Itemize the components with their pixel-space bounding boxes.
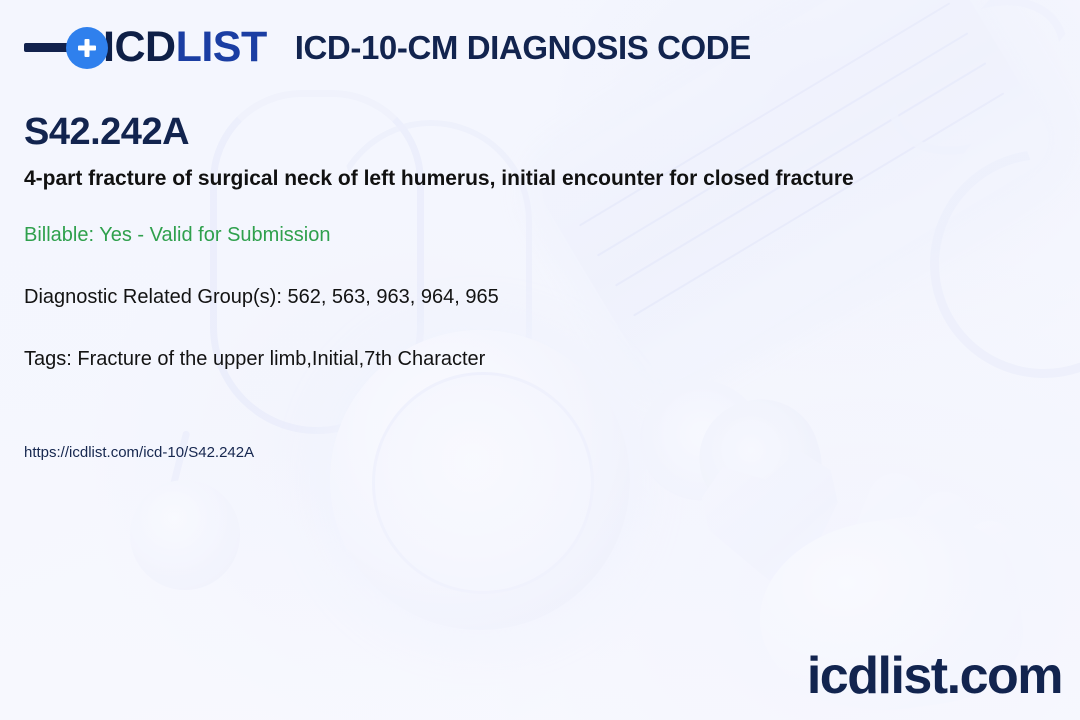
- source-url[interactable]: https://icdlist.com/icd-10/S42.242A: [24, 444, 254, 461]
- logo-text-icd: ICD: [103, 26, 176, 69]
- card-content: ICD LIST ICD-10-CM DIAGNOSIS CODE S42.24…: [0, 0, 1080, 720]
- diagnostic-related-groups: Diagnostic Related Group(s): 562, 563, 9…: [24, 286, 499, 309]
- tags-list: Tags: Fracture of the upper limb,Initial…: [24, 348, 485, 371]
- page-header: ICD LIST ICD-10-CM DIAGNOSIS CODE: [24, 26, 751, 69]
- diagnosis-code: S42.242A: [24, 111, 189, 154]
- plus-icon: [66, 27, 108, 69]
- diagnosis-description: 4-part fracture of surgical neck of left…: [24, 167, 1056, 191]
- billable-status: Billable: Yes - Valid for Submission: [24, 224, 330, 247]
- icd-code-card: ICD LIST ICD-10-CM DIAGNOSIS CODE S42.24…: [0, 0, 1080, 720]
- site-watermark: icdlist.com: [807, 650, 1062, 702]
- icdlist-logo[interactable]: ICD LIST: [24, 26, 267, 69]
- dash-icon: [24, 43, 72, 52]
- logo-text-list: LIST: [176, 26, 267, 69]
- page-title: ICD-10-CM DIAGNOSIS CODE: [295, 31, 751, 64]
